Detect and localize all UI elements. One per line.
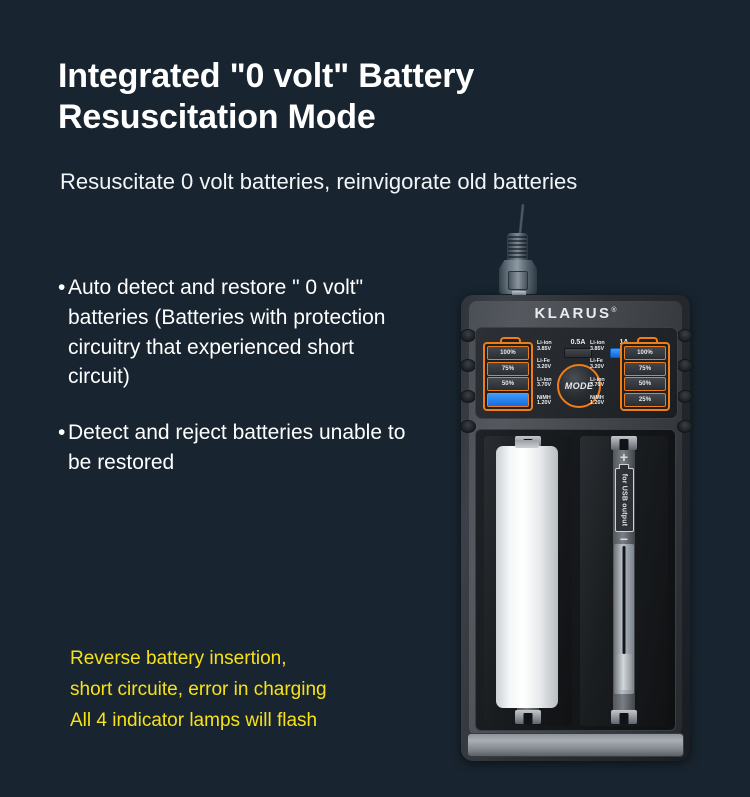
level-label: 100% xyxy=(637,350,653,356)
level-segment: 50% xyxy=(487,377,529,391)
indicator-lamp xyxy=(460,420,476,433)
level-segment: 75% xyxy=(487,362,529,376)
control-panel: 100% 75% 50% 25% Li-ion 3.85V Li-Fe 3.20… xyxy=(475,327,678,419)
slider-knob[interactable] xyxy=(616,654,632,690)
bay-contact-positive xyxy=(611,436,637,450)
contact-notch xyxy=(524,713,533,724)
level-segment: 100% xyxy=(487,346,529,360)
warning-text: Reverse battery insertion, short circuit… xyxy=(70,644,470,736)
chemistry-entry: Li-ion 3.70V xyxy=(590,378,616,389)
bay-contact-negative xyxy=(515,710,541,724)
level-label: 25% xyxy=(502,397,514,403)
charger-base xyxy=(467,733,684,757)
level-label: 75% xyxy=(502,366,514,372)
usb-output-label: for USB output xyxy=(621,474,628,527)
usb-plug-inner xyxy=(508,271,528,290)
chemistry-voltage: 3.20V xyxy=(590,365,616,371)
indicator-lamp xyxy=(677,329,693,342)
level-label: 75% xyxy=(639,366,651,372)
battery-icon-body: 100% 75% 50% 25% xyxy=(620,342,670,411)
level-segment-active: 25% xyxy=(487,393,529,407)
page-title: Integrated "0 volt" Battery Resuscitatio… xyxy=(58,56,698,139)
chemistry-voltage: 1.20V xyxy=(590,401,616,407)
chemistry-voltage: 3.70V xyxy=(590,383,616,389)
list-item: • Auto detect and restore " 0 volt" batt… xyxy=(58,273,418,392)
mode-button-label: MODE xyxy=(565,381,594,391)
inserted-battery-cell xyxy=(496,446,558,708)
chemistry-entry: Li-Fe 3.20V xyxy=(537,359,563,370)
usb-icon-tab xyxy=(619,464,629,469)
contact-notch xyxy=(620,713,629,724)
level-label: 25% xyxy=(639,397,651,403)
level-segment: 100% xyxy=(624,346,666,360)
bullet-text: Detect and reject batteries unable to be… xyxy=(68,418,418,478)
level-label: 50% xyxy=(639,381,651,387)
current-label: 0.5A xyxy=(564,339,592,346)
registered-trademark-icon: ® xyxy=(611,307,616,314)
indicator-lamp xyxy=(677,420,693,433)
chemistry-voltage: 1.20V xyxy=(537,401,563,407)
level-label: 100% xyxy=(500,350,516,356)
level-segment: 50% xyxy=(624,377,666,391)
slider-groove xyxy=(623,546,626,654)
chemistry-entry: NiMH 1.20V xyxy=(590,396,616,407)
bullet-marker-icon: • xyxy=(58,273,68,303)
polarity-plus-icon: + xyxy=(611,452,637,462)
indicator-lamp xyxy=(460,329,476,342)
brand-name: KLARUS xyxy=(534,305,611,322)
left-indicator-lamps xyxy=(460,329,474,433)
battery-charger-product-image: KLARUS® 100% 75% 50% 25% Li-ion 3.85V xyxy=(461,291,690,765)
usb-cable-plug xyxy=(499,260,537,294)
chemistry-entry: Li-ion 3.85V xyxy=(590,341,616,352)
level-segment: 25% xyxy=(624,393,666,407)
bullet-text: Auto detect and restore " 0 volt" batter… xyxy=(68,273,418,392)
right-indicator-lamps xyxy=(677,329,691,433)
chemistry-entry: Li-ion 3.85V xyxy=(537,341,563,352)
list-item: • Detect and reject batteries unable to … xyxy=(58,418,418,478)
right-battery-level-indicator: 100% 75% 50% 25% xyxy=(620,337,670,411)
bay-slider-rail[interactable] xyxy=(614,544,634,694)
warning-line-2: short circuite, error in charging xyxy=(70,675,470,706)
usb-plug-icon: for USB output xyxy=(615,468,634,532)
current-lamp-off xyxy=(564,348,592,358)
warning-line-3: All 4 indicator lamps will flash xyxy=(70,706,470,737)
bullet-marker-icon: • xyxy=(58,418,68,448)
chemistry-entry: Li-Fe 3.20V xyxy=(590,359,616,370)
current-option-05a[interactable]: 0.5A xyxy=(564,339,592,358)
battery-bay-2[interactable]: + for USB output − xyxy=(580,436,668,726)
page-subtitle: Resuscitate 0 volt batteries, reinvigora… xyxy=(60,168,720,197)
brand-logo: KLARUS® xyxy=(461,305,690,322)
warning-line-1: Reverse battery insertion, xyxy=(70,644,470,675)
indicator-lamp xyxy=(677,390,693,403)
indicator-lamp xyxy=(677,359,693,372)
battery-bays: + for USB output − xyxy=(475,429,676,731)
indicator-lamp xyxy=(460,390,476,403)
usb-output-marking: + for USB output − xyxy=(611,452,637,544)
chemistry-voltage: 3.85V xyxy=(590,347,616,353)
battery-bay-1[interactable] xyxy=(484,436,572,726)
right-chemistry-labels: Li-ion 3.85V Li-Fe 3.20V Li-ion 3.70V Ni… xyxy=(590,341,616,407)
chemistry-voltage: 3.20V xyxy=(537,365,563,371)
level-segment: 75% xyxy=(624,362,666,376)
charger-shell: KLARUS® 100% 75% 50% 25% Li-ion 3.85V xyxy=(461,295,690,761)
cell-terminal xyxy=(515,440,539,448)
battery-icon-body: 100% 75% 50% 25% xyxy=(483,342,533,411)
promo-banner: Integrated "0 volt" Battery Resuscitatio… xyxy=(0,0,750,797)
level-label: 50% xyxy=(502,381,514,387)
left-battery-level-indicator: 100% 75% 50% 25% xyxy=(483,337,533,411)
indicator-lamp xyxy=(460,359,476,372)
bay-contact-negative xyxy=(611,710,637,724)
polarity-minus-icon: − xyxy=(611,534,637,544)
chemistry-voltage: 3.85V xyxy=(537,347,563,353)
usb-cable-strain-relief xyxy=(507,233,528,263)
feature-bullet-list: • Auto detect and restore " 0 volt" batt… xyxy=(58,273,418,504)
chemistry-entry: NiMH 1.20V xyxy=(537,396,563,407)
